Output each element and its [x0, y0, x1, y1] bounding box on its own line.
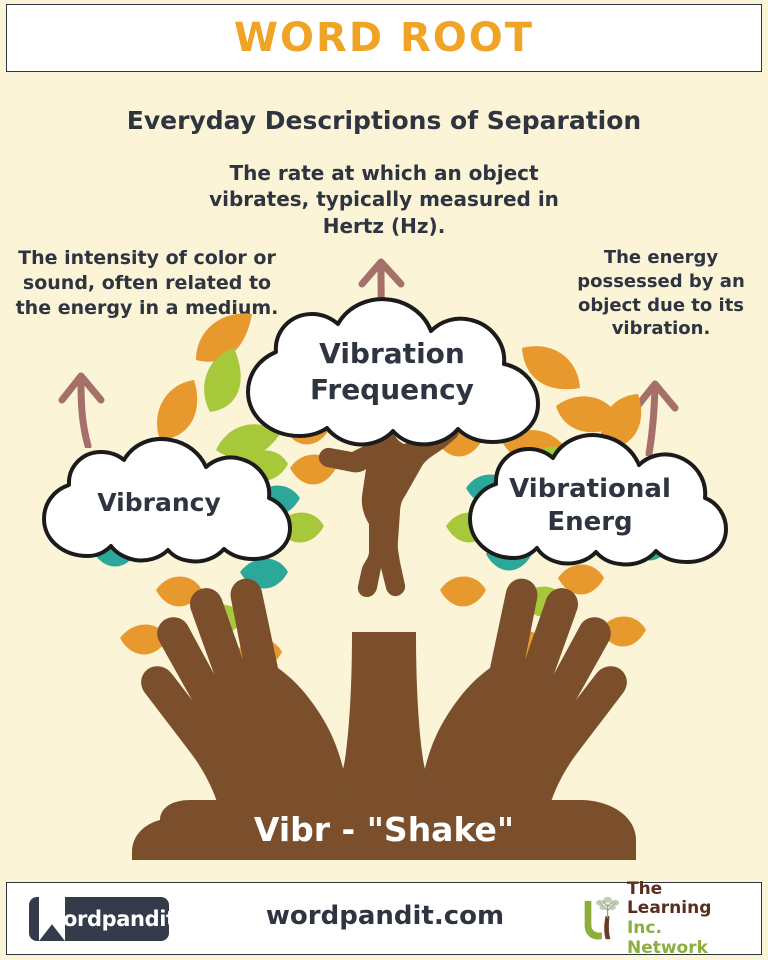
page-title: WORD ROOT	[234, 15, 534, 61]
partner-logo-text: The Learning Inc. Network	[627, 880, 747, 959]
partner-logo-line1: The Learning	[627, 880, 747, 919]
subtitle: Everyday Descriptions of Separation	[0, 106, 768, 135]
header-bar: WORD ROOT	[6, 4, 762, 72]
cloud-vibrancy	[26, 432, 294, 572]
tree-logo-icon	[577, 894, 621, 944]
root-label: Vibr - "Shake"	[0, 810, 768, 849]
cloud-vibrational-energy	[452, 428, 728, 576]
infographic-poster: WORD ROOT Everyday Descriptions of Separ…	[0, 0, 768, 960]
footer-bar: ordpandit wordpandit.com	[6, 882, 762, 955]
partner-logo-line2: Inc. Network	[627, 919, 747, 958]
the-learning-inc-network-logo[interactable]: The Learning Inc. Network	[577, 893, 747, 945]
description-top: The rate at which an object vibrates, ty…	[184, 160, 584, 239]
